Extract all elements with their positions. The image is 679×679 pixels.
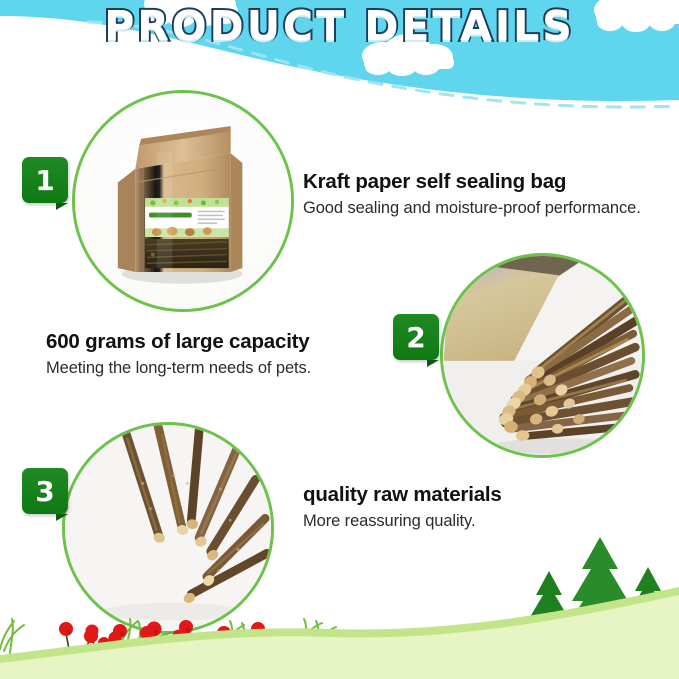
item-3-number-badge: 3 — [22, 468, 68, 514]
kraft-paper-bag-photo — [75, 93, 291, 309]
item-3-text-block: quality raw materials More reassuring qu… — [303, 483, 679, 531]
item-3-heading: quality raw materials — [303, 483, 679, 507]
item-1-photo-circle — [72, 90, 294, 312]
item-2-text-block: 600 grams of large capacity Meeting the … — [46, 330, 406, 378]
item-3-number: 3 — [35, 475, 54, 508]
item-1-subtext: Good sealing and moisture-proof performa… — [303, 199, 679, 219]
item-2-photo-circle — [440, 253, 645, 458]
item-1-number: 1 — [35, 164, 54, 197]
product-details-infographic: PRODUCT DETAILS — [0, 0, 679, 679]
item-2-heading: 600 grams of large capacity — [46, 330, 406, 354]
item-2-number: 2 — [406, 321, 425, 354]
item-1-text-block: Kraft paper self sealing bag Good sealin… — [303, 170, 679, 218]
item-1-heading: Kraft paper self sealing bag — [303, 170, 679, 194]
item-1-number-badge: 1 — [22, 157, 68, 203]
footer-decoration — [0, 529, 679, 679]
item-2-subtext: Meeting the long-term needs of pets. — [46, 359, 406, 379]
bundle-of-apple-sticks-photo — [443, 256, 642, 455]
page-title: PRODUCT DETAILS — [0, 2, 679, 50]
footer-scenery — [0, 529, 679, 679]
page-title-wrap: PRODUCT DETAILS — [0, 0, 679, 70]
item-2-number-badge: 2 — [393, 314, 439, 360]
